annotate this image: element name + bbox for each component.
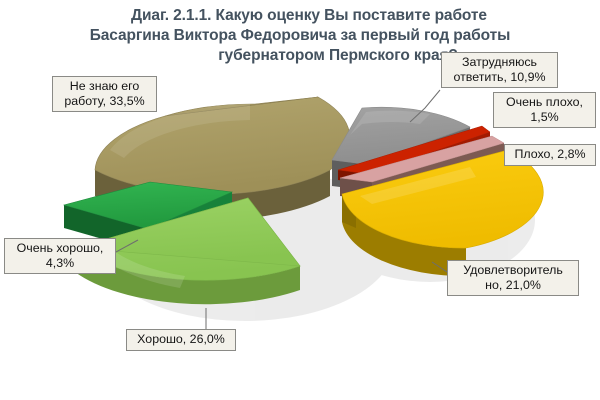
pie-chart-figure: Диаг. 2.1.1. Какую оценку Вы поставите р… [0, 0, 600, 400]
data-label-good[interactable]: Хорошо, 26,0% [126, 329, 236, 351]
data-label-verygood[interactable]: Очень хорошо, 4,3% [4, 238, 116, 274]
data-label-satisfactory[interactable]: Удовлетворитель но, 21,0% [447, 260, 579, 296]
data-label-verybad[interactable]: Очень плохо, 1,5% [493, 92, 596, 128]
data-label-bad[interactable]: Плохо, 2,8% [504, 144, 596, 166]
data-label-hardtosay[interactable]: Затрудняюсь ответить, 10,9% [441, 52, 558, 88]
data-label-dontknow[interactable]: Не знаю его работу, 33,5% [52, 76, 157, 112]
